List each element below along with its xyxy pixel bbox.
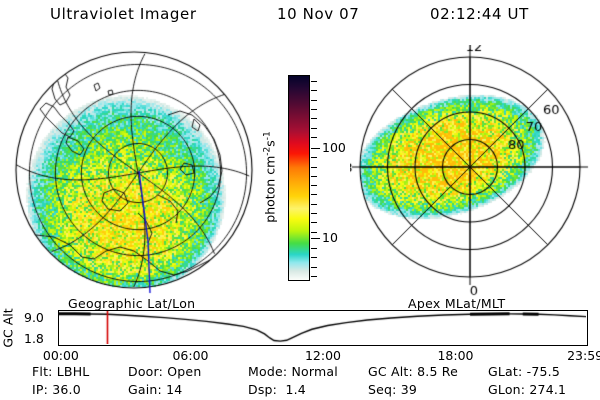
colorbar-minor-tick [311, 267, 317, 268]
status-dsp-value: 1.4 [285, 382, 305, 397]
status-door-value: Open [167, 364, 201, 379]
gc-alt-tick-high: 9.0 [24, 312, 44, 325]
orbit-time-tick-1: 06:00 [172, 348, 208, 363]
orbit-altitude-curve[interactable] [59, 311, 586, 344]
colorbar-tick-label-10: 10 [322, 232, 338, 245]
status-filter-value: LBHL [57, 364, 90, 379]
geographic-aurora-image[interactable] [8, 45, 263, 295]
colorbar-minor-tick [311, 185, 317, 186]
instrument-title: Ultraviolet Imager [50, 5, 197, 23]
gc-alt-tick-low: 1.8 [24, 333, 44, 346]
colorbar-minor-tick [311, 204, 317, 205]
orbit-time-tick-2: 12:00 [305, 348, 341, 363]
colorbar-label-exponent-2: -1 [262, 131, 272, 140]
status-glon: GLon: 274.1 [488, 382, 566, 397]
status-glat: GLat: -75.5 [488, 364, 560, 379]
status-door: Door: Open [128, 364, 201, 379]
colorbar-minor-tick [311, 257, 317, 258]
apex-aurora-dial[interactable] [350, 45, 592, 297]
status-dsp: Dsp: 1.4 [248, 382, 306, 397]
status-glon-value: 274.1 [529, 382, 566, 397]
colorbar-minor-tick [311, 232, 317, 233]
colorbar: photon cm-2s-1 10010 [286, 73, 348, 285]
status-glon-label: GLon: [488, 382, 525, 397]
orbit-time-tick-3: 18:00 [437, 348, 473, 363]
status-gc-alt-label: GC Alt: [368, 364, 413, 379]
colorbar-minor-tick [311, 90, 317, 91]
status-gain-label: Gain: [128, 382, 162, 397]
status-seq-label: Seq: [368, 382, 397, 397]
status-mode-value: Normal [291, 364, 337, 379]
colorbar-major-tick [311, 148, 320, 149]
status-mode: Mode: Normal [248, 364, 338, 379]
status-ip-value: 36.0 [52, 382, 81, 397]
status-ip-label: IP: [32, 382, 48, 397]
colorbar-tick-label-100: 100 [322, 142, 346, 155]
gc-alt-axis-label: GC Alt [1, 308, 16, 347]
colorbar-gradient [289, 76, 309, 280]
status-glat-label: GLat: [488, 364, 522, 379]
colorbar-axis-label: photon cm-2s-1 [262, 131, 277, 222]
status-gc-alt-value: 8.5 Re [417, 364, 458, 379]
colorbar-major-tick [311, 238, 320, 239]
colorbar-minor-tick [311, 137, 317, 138]
app-window: Ultraviolet Imager 10 Nov 07 02:12:44 UT… [0, 0, 600, 400]
colorbar-minor-tick [311, 157, 317, 158]
status-gain: Gain: 14 [128, 382, 182, 397]
status-gc-alt: GC Alt: 8.5 Re [368, 364, 458, 379]
colorbar-minor-tick [311, 100, 317, 101]
colorbar-minor-tick [311, 248, 317, 249]
colorbar-minor-tick [311, 118, 317, 119]
colorbar-minor-tick [311, 213, 317, 214]
apex-mlat-mlt-panel[interactable] [350, 45, 592, 297]
colorbar-minor-tick [311, 128, 317, 129]
status-mode-label: Mode: [248, 364, 287, 379]
colorbar-label-prefix: photon cm [263, 156, 278, 223]
observation-date: 10 Nov 07 [277, 5, 359, 23]
observation-time: 02:12:44 UT [430, 5, 529, 23]
colorbar-gradient-box [288, 75, 310, 281]
colorbar-minor-tick [311, 176, 317, 177]
orbit-time-tick-0: 00:00 [43, 348, 79, 363]
colorbar-minor-tick [311, 276, 317, 277]
geographic-panel[interactable] [8, 45, 263, 295]
colorbar-minor-tick [311, 167, 317, 168]
status-filter: Flt: LBHL [32, 364, 89, 379]
status-ip: IP: 36.0 [32, 382, 81, 397]
status-dsp-label: Dsp: [248, 382, 277, 397]
orbit-plot-box[interactable] [58, 310, 588, 346]
orbit-altitude-strip[interactable]: GC Alt 9.0 1.8 00:0006:0012:0018:0023:59 [0, 306, 600, 358]
colorbar-label-exponent-1: -2 [262, 147, 272, 156]
colorbar-label-mid: s [263, 140, 278, 147]
status-footer: Flt: LBHL IP: 36.0 Door: Open Gain: 14 M… [0, 362, 600, 400]
colorbar-minor-tick [311, 109, 317, 110]
header: Ultraviolet Imager 10 Nov 07 02:12:44 UT [0, 5, 600, 31]
colorbar-minor-tick [311, 194, 317, 195]
orbit-time-tick-4: 23:59 [567, 348, 600, 363]
status-filter-label: Flt: [32, 364, 53, 379]
colorbar-minor-tick [311, 222, 317, 223]
status-door-label: Door: [128, 364, 163, 379]
status-gain-value: 14 [166, 382, 182, 397]
status-glat-value: -75.5 [527, 364, 560, 379]
status-seq: Seq: 39 [368, 382, 417, 397]
status-seq-value: 39 [401, 382, 417, 397]
colorbar-minor-tick [311, 81, 317, 82]
